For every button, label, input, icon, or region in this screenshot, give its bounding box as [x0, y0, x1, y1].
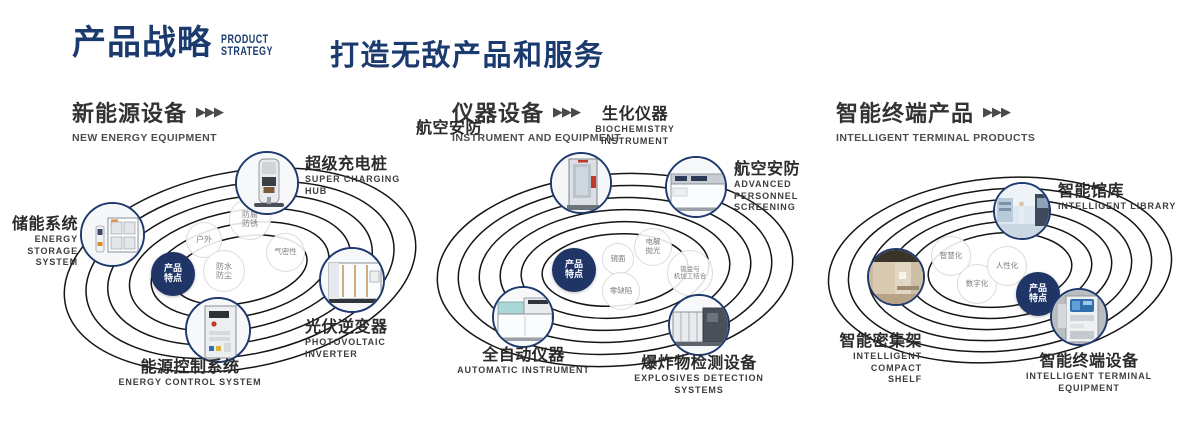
node-label-biochemistry-instrument: 生化仪器 BIOCHEMISTRY INSTRUMENT [570, 105, 700, 147]
energy-storage-cabinet-icon [82, 204, 143, 265]
node-label-cn: 航空安防 [416, 119, 482, 137]
node-label-intelligent-library: 智能馆库 INTELLIGENT LIBRARY [1058, 182, 1176, 213]
node-label-cn: 能源控制系统 [70, 358, 310, 376]
node-label-en: INTELLIGENT COMPACT SHELF [802, 351, 922, 385]
node-label-en: EXPLOSIVES DETECTION SYSTEMS [609, 373, 789, 396]
feature-center-line2: 特点 [565, 270, 583, 280]
node-label-intelligent-terminal-equipment: 智能终端设备 INTELLIGENT TERMINAL EQUIPMENT [999, 352, 1179, 394]
page-title-block: 产品战略 PRODUCT STRATEGY [72, 26, 288, 60]
page-slogan: 打造无敌产品和服务 [330, 32, 605, 74]
node-label-cn: 全自动仪器 [436, 346, 611, 364]
feature-center-line1: 产品 [565, 260, 583, 270]
feature-bubble-label: 人性化 [996, 262, 1019, 271]
page-title-en: PRODUCT STRATEGY [221, 35, 273, 58]
cluster-new-energy: 产品特点 户外 防腐 防锈 防水 防尘 气密性 [55, 160, 425, 380]
section-heading-intelligent-terminal: 智能终端产品▶▶▶ INTELLIGENT TERMINAL PRODUCTS [836, 96, 1035, 144]
feature-bubble-airtight: 气密性 [266, 233, 305, 272]
self-service-kiosk-icon [1052, 290, 1106, 344]
section-title-en: NEW ENERGY EQUIPMENT [72, 132, 223, 144]
node-energy-control-system[interactable] [185, 297, 251, 363]
feature-center-line1: 产品 [1029, 284, 1047, 294]
page-title: 产品战略 [72, 26, 212, 60]
node-label-cn: 光伏逆变器 [305, 318, 425, 336]
node-label-intelligent-compact-shelf: 智能密集架 INTELLIGENT COMPACT SHELF [802, 332, 922, 385]
node-explosives-detection-systems[interactable] [668, 294, 730, 356]
feature-bubble-label: 电解 抛光 [646, 238, 661, 255]
cluster-instrument: 产品特点 镜面 电解 抛光 钣金与 机加工结合 零缺陷 生化仪器 BIOC [430, 160, 800, 380]
feature-center-line1: 产品 [164, 264, 182, 274]
node-label-photovoltaic-inverter: 光伏逆变器 PHOTOVOLTAIC INVERTER [305, 318, 425, 360]
node-label-cn: 智能密集架 [802, 332, 922, 350]
compact-shelf-icon [869, 250, 923, 304]
feature-bubble-label: 气密性 [274, 248, 297, 257]
node-label-en: INTELLIGENT LIBRARY [1058, 201, 1176, 212]
node-label-en: BIOCHEMISTRY INSTRUMENT [570, 124, 700, 147]
feature-bubble-label: 镜面 [611, 255, 626, 264]
feature-bubble-sheetmetal: 钣金与 机加工结合 [667, 250, 713, 296]
feature-bubble-zerodefect: 零缺陷 [602, 272, 640, 310]
node-biochemistry-instrument[interactable] [550, 152, 612, 214]
node-label-explosives-detection-systems: 爆炸物检测设备 EXPLOSIVES DETECTION SYSTEMS [609, 354, 789, 396]
section-heading-new-energy: 新能源设备▶▶▶ NEW ENERGY EQUIPMENT [72, 96, 223, 144]
charging-pile-icon [237, 153, 297, 213]
automatic-analyzer-icon [494, 288, 552, 346]
feature-center-line2: 特点 [1029, 294, 1047, 304]
feature-bubble-label: 户外 [196, 235, 212, 244]
node-label-en: PHOTOVOLTAIC INVERTER [305, 337, 425, 360]
node-label-cn: 智能馆库 [1058, 182, 1176, 200]
chevron-triple-icon: ▶▶▶ [196, 104, 223, 120]
control-cabinet-icon [187, 299, 249, 361]
node-label-en: ADVANCED PERSONNEL SCREENING [734, 179, 800, 213]
node-label-en: ENERGY STORAGE SYSTEM [0, 234, 78, 268]
explosives-detector-icon [670, 296, 728, 354]
page-title-en-line1: PRODUCT [221, 35, 273, 47]
library-interior-icon [995, 184, 1049, 238]
node-label-cn: 智能终端设备 [999, 352, 1179, 370]
screening-machine-icon [667, 158, 725, 216]
section-title-cn: 新能源设备 [72, 96, 187, 128]
node-label-energy-control-system: 能源控制系统 ENERGY CONTROL SYSTEM [70, 358, 310, 389]
pv-inverter-cabinet-icon [321, 249, 383, 311]
cluster-intelligent-terminal: 智慧化 数字化 人性化 产品特点 [820, 160, 1180, 380]
node-label-aviation-security-left: 航空安防 [416, 119, 482, 137]
page-title-en-line2: STRATEGY [221, 47, 273, 59]
section-title-cn: 智能终端产品 [836, 96, 974, 128]
product-strategy-infographic: 产品战略 PRODUCT STRATEGY 打造无敌产品和服务 新能源设备▶▶▶… [0, 0, 1200, 422]
node-energy-storage-system[interactable] [80, 202, 145, 267]
section-title-en: INTELLIGENT TERMINAL PRODUCTS [836, 132, 1035, 144]
node-label-cn: 航空安防 [734, 160, 800, 178]
node-label-cn: 储能系统 [0, 215, 78, 233]
node-super-charging-hub[interactable] [235, 151, 299, 215]
node-label-cn: 生化仪器 [570, 105, 700, 123]
feature-bubble-mirror: 镜面 [602, 243, 634, 275]
feature-center-bubble: 产品特点 [552, 248, 596, 292]
node-photovoltaic-inverter[interactable] [319, 247, 385, 313]
node-label-en: INTELLIGENT TERMINAL EQUIPMENT [999, 371, 1179, 394]
node-intelligent-terminal-equipment[interactable] [1050, 288, 1108, 346]
node-label-en: ENERGY CONTROL SYSTEM [70, 377, 310, 388]
feature-bubble-label: 智慧化 [940, 252, 963, 261]
node-label-cn: 爆炸物检测设备 [609, 354, 789, 372]
feature-bubble-label: 钣金与 机加工结合 [674, 266, 707, 281]
node-label-en: SUPER CHARGING HUB [305, 174, 425, 197]
node-intelligent-library[interactable] [993, 182, 1051, 240]
feature-bubble-label: 零缺陷 [610, 287, 633, 296]
feature-bubble-electropolish: 电解 抛光 [634, 228, 672, 266]
chevron-triple-icon: ▶▶▶ [983, 104, 1010, 120]
node-label-cn: 超级充电桩 [305, 155, 425, 173]
feature-bubble-label: 防水 防尘 [216, 262, 232, 280]
feature-center-bubble: 产品特点 [151, 252, 195, 296]
node-label-en: AUTOMATIC INSTRUMENT [436, 365, 611, 376]
node-intelligent-compact-shelf[interactable] [867, 248, 925, 306]
node-label-advanced-personnel-screening: 航空安防 ADVANCED PERSONNEL SCREENING [734, 160, 800, 213]
feature-center-line2: 特点 [164, 274, 182, 284]
node-label-energy-storage-system: 储能系统 ENERGY STORAGE SYSTEM [0, 215, 78, 268]
feature-bubble-label: 数字化 [966, 280, 989, 289]
node-automatic-instrument[interactable] [492, 286, 554, 348]
node-advanced-personnel-screening[interactable] [665, 156, 727, 218]
node-label-super-charging-hub: 超级充电桩 SUPER CHARGING HUB [305, 155, 425, 197]
biochemistry-scanner-icon [552, 154, 610, 212]
feature-bubble-waterproof: 防水 防尘 [203, 250, 245, 292]
node-label-automatic-instrument: 全自动仪器 AUTOMATIC INSTRUMENT [436, 346, 611, 377]
